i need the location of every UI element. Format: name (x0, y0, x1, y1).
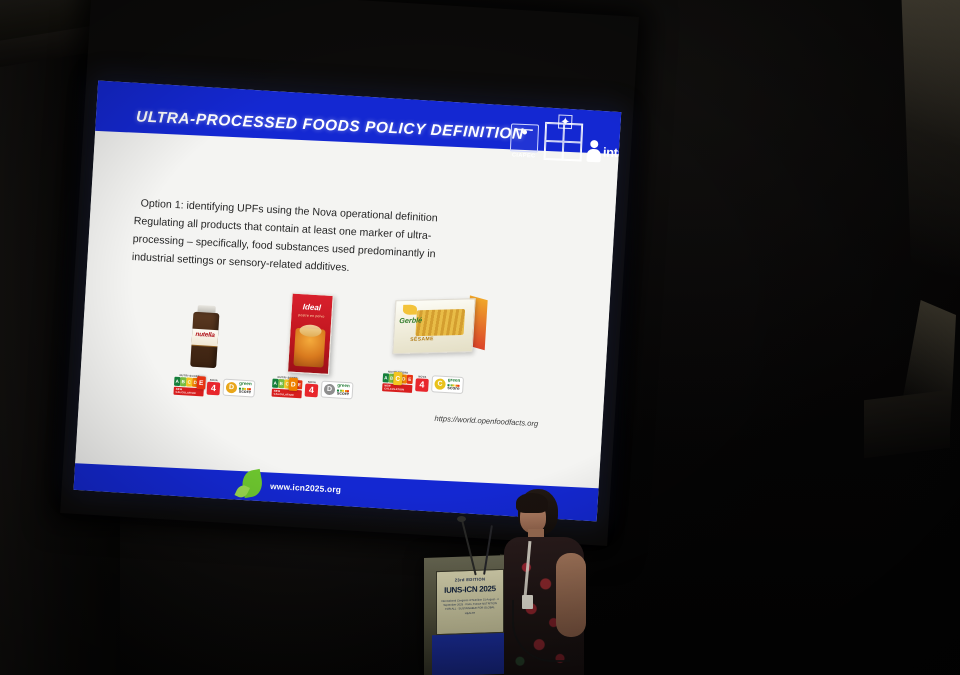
auditorium-scene: ULTRA-PROCESSED FOODS POLICY DEFINITION … (0, 0, 960, 675)
nova-badge: NOVA 4 (415, 375, 429, 392)
podium-sign: 23rd EDITION IUNS-ICN 2025 International… (436, 569, 504, 635)
ciapec-logo: CIAPEC (509, 123, 541, 159)
nutri-score-badge: NUTRI-SCORE A B C D E NEW CALCULATION (382, 370, 413, 393)
gerble-variant-label: SÉSAME (410, 336, 434, 343)
podium-sign-title: IUNS-ICN 2025 (437, 584, 503, 595)
nova-badge: NOVA 4 (207, 378, 221, 395)
ideal-brand-sublabel: postre en polvo (291, 313, 331, 319)
inta-logo: inta (587, 140, 621, 164)
green-score-badge: D green score (222, 379, 254, 397)
nutri-score-badge: NUTRI-SCORE A B C D E NEW CALCULATION (271, 376, 302, 399)
nutri-score-note: NEW CALCULATION (271, 389, 301, 399)
nova-value: 4 (415, 378, 429, 392)
university-shield-icon: ✦ (544, 122, 584, 162)
shield-star-icon: ✦ (558, 114, 573, 129)
gerble-brand-label: Gerblé (399, 315, 422, 325)
nova-value: 4 (305, 383, 319, 397)
speaker-hair-front (516, 493, 548, 513)
nutella-brand-label: nutella (193, 331, 217, 339)
ciapec-emblem-icon (510, 123, 539, 152)
nutri-letter-d-selected: D (289, 378, 298, 392)
green-score-grade: C (434, 378, 446, 390)
nutri-letter-e: E (407, 375, 414, 384)
ciapec-logo-label: CIAPEC (512, 152, 536, 159)
podium-lower-panel (432, 633, 506, 675)
nutri-score-badge: NUTRI-SCORE A B C D E NEW CALCULATION (173, 374, 204, 397)
green-score-grade: D (324, 384, 336, 396)
green-score-label-bottom: score (239, 390, 252, 395)
nova-badge: NOVA 4 (305, 380, 319, 397)
nutri-letter-c-selected: C (393, 372, 402, 386)
green-score-label-bottom: score (337, 391, 350, 396)
presentation-slide: ULTRA-PROCESSED FOODS POLICY DEFINITION … (74, 81, 622, 522)
podium-sign-edition: 23rd EDITION (437, 576, 503, 583)
green-score-badge: D green score (321, 381, 353, 399)
nutri-score-letters: A B C D E (174, 377, 204, 388)
nova-value: 4 (207, 381, 221, 395)
nutri-score-letters: A B C D E (272, 379, 302, 390)
inta-person-icon (587, 140, 602, 163)
green-score-grade: D (226, 382, 238, 394)
slide-logos: CIAPEC ✦ inta (509, 120, 621, 163)
acoustic-panel-base (864, 390, 950, 459)
podium-sign-subtitle: International Congress of Nutrition 31 A… (440, 598, 500, 617)
projection-screen-assembly: ULTRA-PROCESSED FOODS POLICY DEFINITION … (60, 0, 639, 546)
nutella-jar-image: nutella (189, 305, 221, 369)
slide-body-text: Option 1: identifying UPFs using the Nov… (131, 195, 564, 289)
gerble-score-row: NUTRI-SCORE A B C D E NEW CALCULATION (382, 370, 464, 396)
green-score-badge: C green score (431, 376, 463, 394)
green-score-label-bottom: score (447, 386, 460, 391)
gerble-box-image: Gerblé SÉSAME (392, 291, 487, 356)
nutri-score-letters: A B C D E (383, 373, 413, 384)
ideal-brand-label: Ideal (292, 302, 332, 313)
nutri-letter-e-selected: E (196, 376, 205, 390)
ideal-box-image: Ideal postre en polvo (287, 293, 334, 375)
microphone-head-icon (457, 516, 466, 522)
ideal-score-row: NUTRI-SCORE A B C D E NEW CALCULATION (271, 376, 353, 402)
nutella-score-row: NUTRI-SCORE A B C D E NEW CALCULATION (173, 374, 255, 400)
projection-screen: ULTRA-PROCESSED FOODS POLICY DEFINITION … (74, 81, 622, 522)
